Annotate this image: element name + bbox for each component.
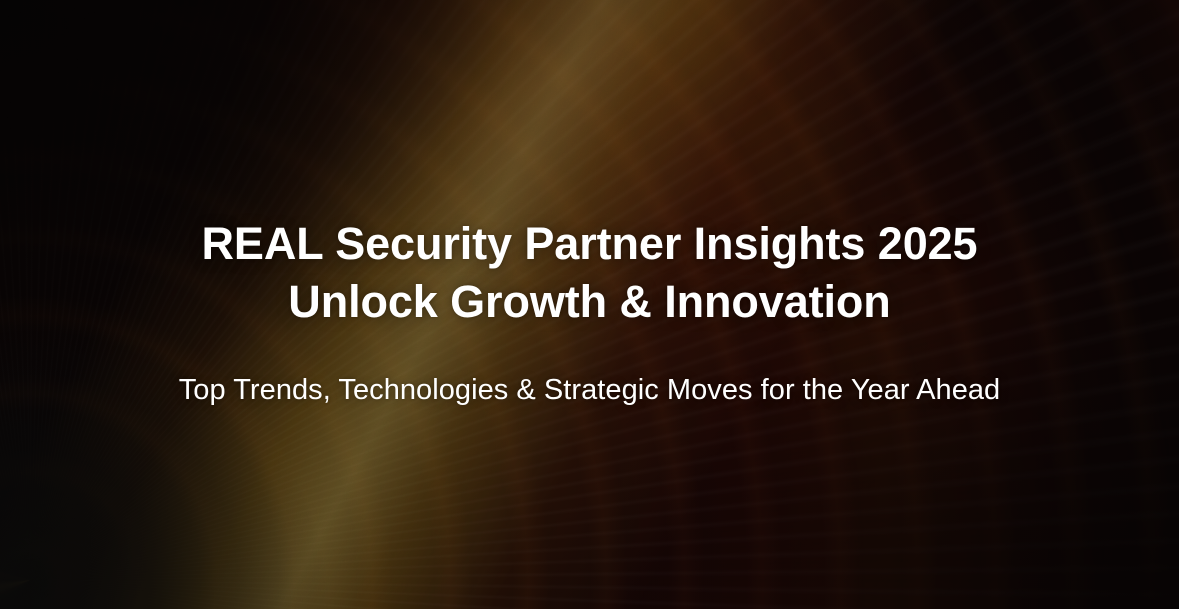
headline-line-2: Unlock Growth & Innovation (202, 273, 978, 331)
banner-subheadline: Top Trends, Technologies & Strategic Mov… (179, 371, 1000, 409)
hero-banner: REAL Security Partner Insights 2025 Unlo… (0, 0, 1179, 609)
banner-content: REAL Security Partner Insights 2025 Unlo… (0, 0, 1179, 609)
headline-line-1: REAL Security Partner Insights 2025 (202, 215, 978, 273)
banner-headline: REAL Security Partner Insights 2025 Unlo… (202, 215, 978, 331)
